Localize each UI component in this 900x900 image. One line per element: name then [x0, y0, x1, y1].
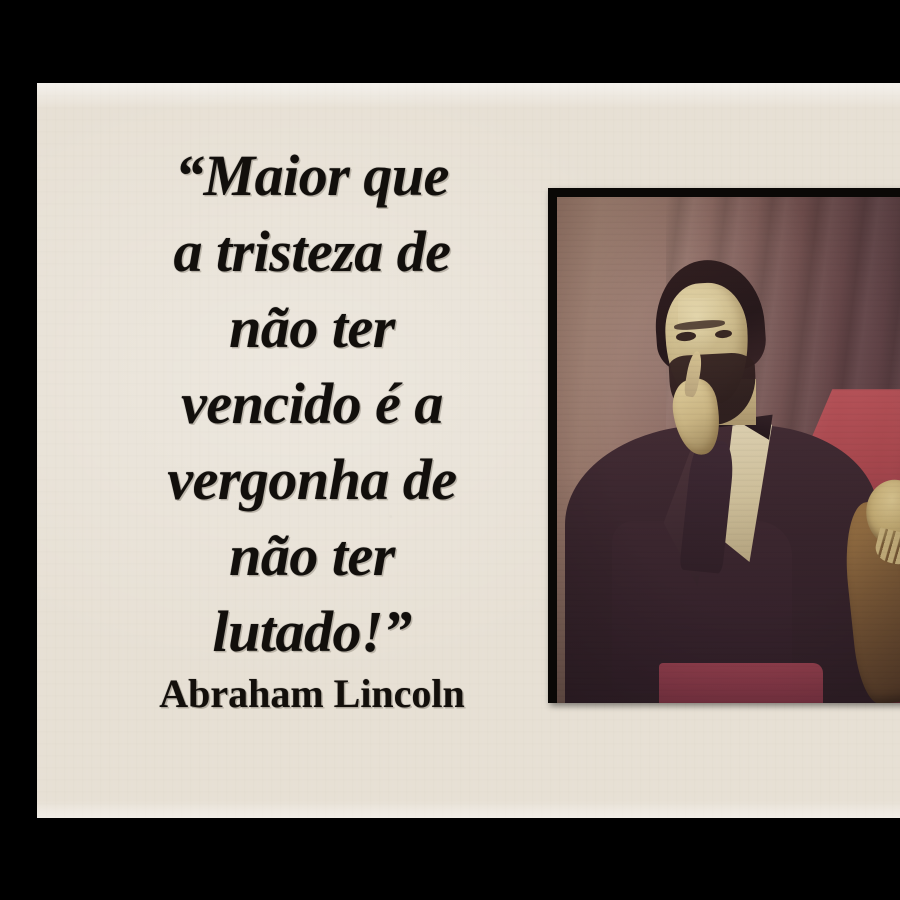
- screenshot-canvas: “Maior que a tristeza de não ter vencido…: [0, 0, 900, 900]
- quote-line: vergonha de: [97, 442, 527, 518]
- quote-line: lutado!”: [97, 594, 527, 670]
- quote-card: “Maior que a tristeza de não ter vencido…: [37, 83, 900, 818]
- quote-line: não ter: [97, 290, 527, 366]
- quote-line: “Maior que: [97, 138, 527, 214]
- portrait-frame: [548, 188, 900, 703]
- quote-attribution: Abraham Lincoln: [97, 671, 527, 717]
- quote-line: vencido é a: [97, 366, 527, 442]
- quote-line: não ter: [97, 518, 527, 594]
- lincoln-portrait-image: [557, 197, 900, 703]
- quote-line: a tristeza de: [97, 214, 527, 290]
- quote-text-block: “Maior que a tristeza de não ter vencido…: [97, 138, 527, 670]
- portrait-grain-overlay: [557, 197, 900, 703]
